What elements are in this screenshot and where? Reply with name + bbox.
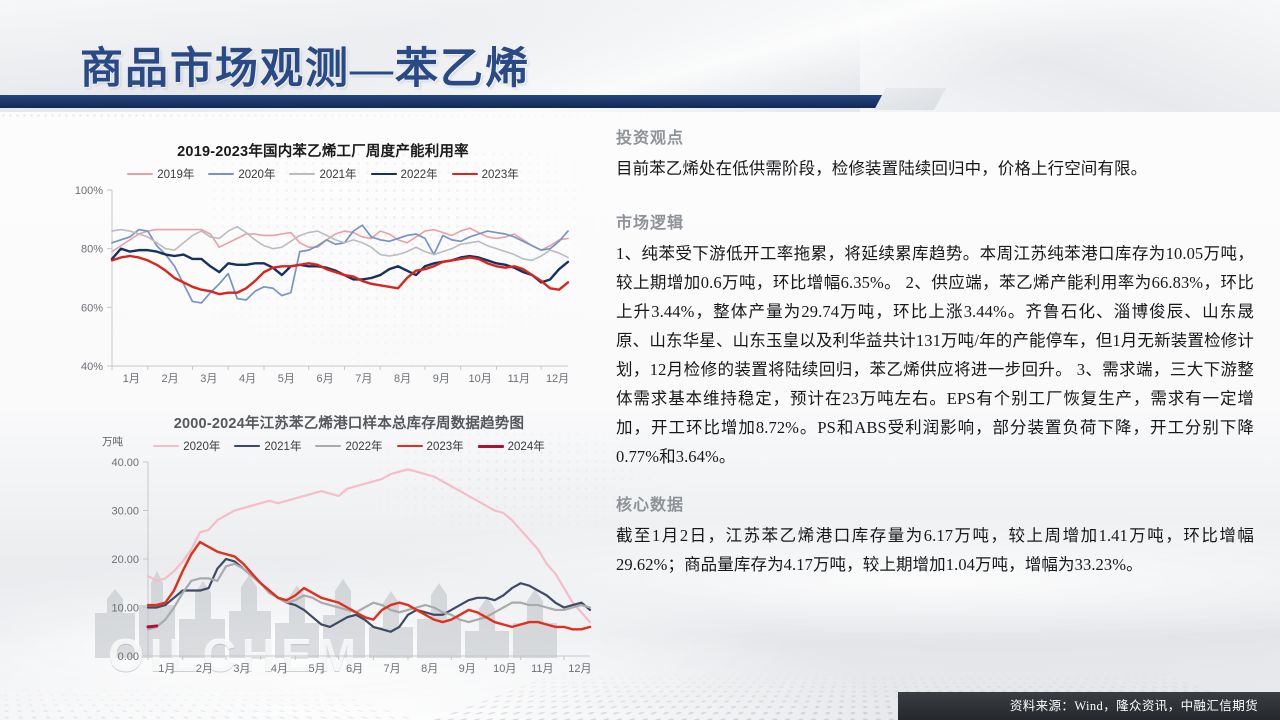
legend-label: 2021年 [319, 166, 356, 182]
legend-item: 2023年 [452, 166, 519, 182]
header-accent-bar [0, 95, 916, 108]
svg-text:4月: 4月 [239, 373, 256, 385]
legend-item: 2020年 [153, 438, 220, 454]
page-title: 商品市场观测—苯乙烯 [80, 34, 530, 96]
svg-text:12月: 12月 [568, 663, 591, 675]
chart2-legend: 2020年2021年2022年2023年2024年 [100, 438, 598, 454]
svg-text:80%: 80% [81, 244, 103, 256]
legend-swatch [371, 173, 397, 175]
section-heading: 投资观点 [616, 124, 1254, 148]
chart1-title: 2019-2023年国内苯乙烯工厂周度产能利用率 [68, 140, 578, 161]
svg-text:0.00: 0.00 [118, 651, 139, 663]
legend-swatch [478, 445, 504, 448]
legend-item: 2021年 [234, 438, 301, 454]
source-note: 资料来源：Wind，隆众资讯，中融汇信期货 [1010, 695, 1258, 714]
chart2-title: 2000-2024年江苏苯乙烯港口样本总库存周数据趋势图 [100, 412, 598, 433]
section-heading: 市场逻辑 [616, 209, 1254, 233]
legend-label: 2021年 [264, 438, 301, 454]
svg-text:40.00: 40.00 [111, 457, 139, 469]
slide-root: OILCHEM 商品市场观测—苯乙烯 2019-2023年国内苯乙烯工厂周度产能… [0, 0, 1280, 720]
legend-swatch [153, 445, 179, 447]
svg-text:20.00: 20.00 [111, 554, 139, 566]
legend-swatch [127, 173, 153, 175]
legend-swatch [397, 445, 423, 447]
svg-text:10月: 10月 [468, 373, 491, 385]
spacer [616, 183, 1254, 209]
svg-text:1月: 1月 [123, 373, 140, 385]
svg-text:5月: 5月 [308, 663, 325, 675]
spacer [616, 471, 1254, 491]
svg-text:11月: 11月 [508, 373, 530, 385]
chart-capacity-utilization: 2019-2023年国内苯乙烯工厂周度产能利用率 2019年2020年2021年… [68, 140, 578, 395]
svg-text:8月: 8月 [394, 373, 411, 385]
svg-text:2月: 2月 [196, 663, 213, 675]
svg-text:30.00: 30.00 [111, 506, 139, 518]
legend-label: 2024年 [508, 438, 545, 454]
svg-text:4月: 4月 [271, 663, 288, 675]
svg-text:6月: 6月 [346, 663, 363, 675]
legend-item: 2020年 [208, 166, 275, 182]
legend-swatch [315, 445, 341, 447]
section-heading: 核心数据 [616, 491, 1254, 515]
chart-jiangsu-port-inventory: 2000-2024年江苏苯乙烯港口样本总库存周数据趋势图 万吨 2020年202… [100, 412, 598, 682]
svg-text:60%: 60% [81, 302, 103, 314]
legend-swatch [289, 173, 315, 175]
chart1-legend: 2019年2020年2021年2022年2023年 [68, 166, 578, 182]
chart2-plot: 0.0010.0020.0030.0040.001月2月3月4月5月6月7月8月… [100, 454, 598, 682]
legend-swatch [208, 173, 234, 175]
svg-text:8月: 8月 [421, 663, 438, 675]
legend-item: 2023年 [397, 438, 464, 454]
footer-bar: 资料来源：Wind，隆众资讯，中融汇信期货 [898, 692, 1280, 720]
legend-item: 2019年 [127, 166, 194, 182]
section-body: 目前苯乙烯处在低供需阶段，检修装置陆续回归中，价格上行空间有限。 [616, 154, 1254, 183]
svg-text:3月: 3月 [200, 373, 217, 385]
legend-item: 2024年 [478, 438, 545, 454]
svg-text:9月: 9月 [459, 663, 476, 675]
header-accent-bar-tail [874, 88, 946, 110]
svg-text:100%: 100% [75, 185, 103, 197]
legend-item: 2021年 [289, 166, 356, 182]
svg-text:3月: 3月 [233, 663, 250, 675]
chart1-plot: 40%60%80%100%1月2月3月4月5月6月7月8月9月10月11月12月 [68, 182, 578, 392]
svg-text:11月: 11月 [531, 663, 553, 675]
svg-text:6月: 6月 [317, 373, 334, 385]
svg-text:9月: 9月 [433, 373, 450, 385]
legend-label: 2020年 [238, 166, 275, 182]
legend-label: 2023年 [482, 166, 519, 182]
chart2-y-unit: 万吨 [102, 434, 123, 449]
legend-label: 2019年 [157, 166, 194, 182]
svg-text:2月: 2月 [162, 373, 179, 385]
legend-label: 2022年 [401, 166, 438, 182]
svg-text:10月: 10月 [493, 663, 516, 675]
legend-item: 2022年 [371, 166, 438, 182]
section-market-logic: 市场逻辑 1、纯苯受下游低开工率拖累，将延续累库趋势。本周江苏纯苯港口库存为10… [616, 209, 1254, 471]
svg-text:7月: 7月 [384, 663, 401, 675]
svg-text:12月: 12月 [546, 373, 569, 385]
section-body: 截至1月2日，江苏苯乙烯港口库存量为6.17万吨，较上周增加1.41万吨，环比增… [616, 521, 1254, 579]
legend-label: 2022年 [345, 438, 382, 454]
svg-text:5月: 5月 [278, 373, 295, 385]
commentary-panel: 投资观点 目前苯乙烯处在低供需阶段，检修装置陆续回归中，价格上行空间有限。 市场… [616, 124, 1254, 579]
section-investment-view: 投资观点 目前苯乙烯处在低供需阶段，检修装置陆续回归中，价格上行空间有限。 [616, 124, 1254, 183]
svg-text:7月: 7月 [355, 373, 372, 385]
svg-text:10.00: 10.00 [111, 603, 139, 615]
legend-swatch [234, 445, 260, 447]
legend-item: 2022年 [315, 438, 382, 454]
svg-text:1月: 1月 [158, 663, 175, 675]
legend-label: 2023年 [427, 438, 464, 454]
legend-swatch [452, 173, 478, 175]
section-body: 1、纯苯受下游低开工率拖累，将延续累库趋势。本周江苏纯苯港口库存为10.05万吨… [616, 239, 1254, 471]
svg-text:40%: 40% [81, 361, 103, 373]
legend-label: 2020年 [183, 438, 220, 454]
section-core-data: 核心数据 截至1月2日，江苏苯乙烯港口库存量为6.17万吨，较上周增加1.41万… [616, 491, 1254, 579]
